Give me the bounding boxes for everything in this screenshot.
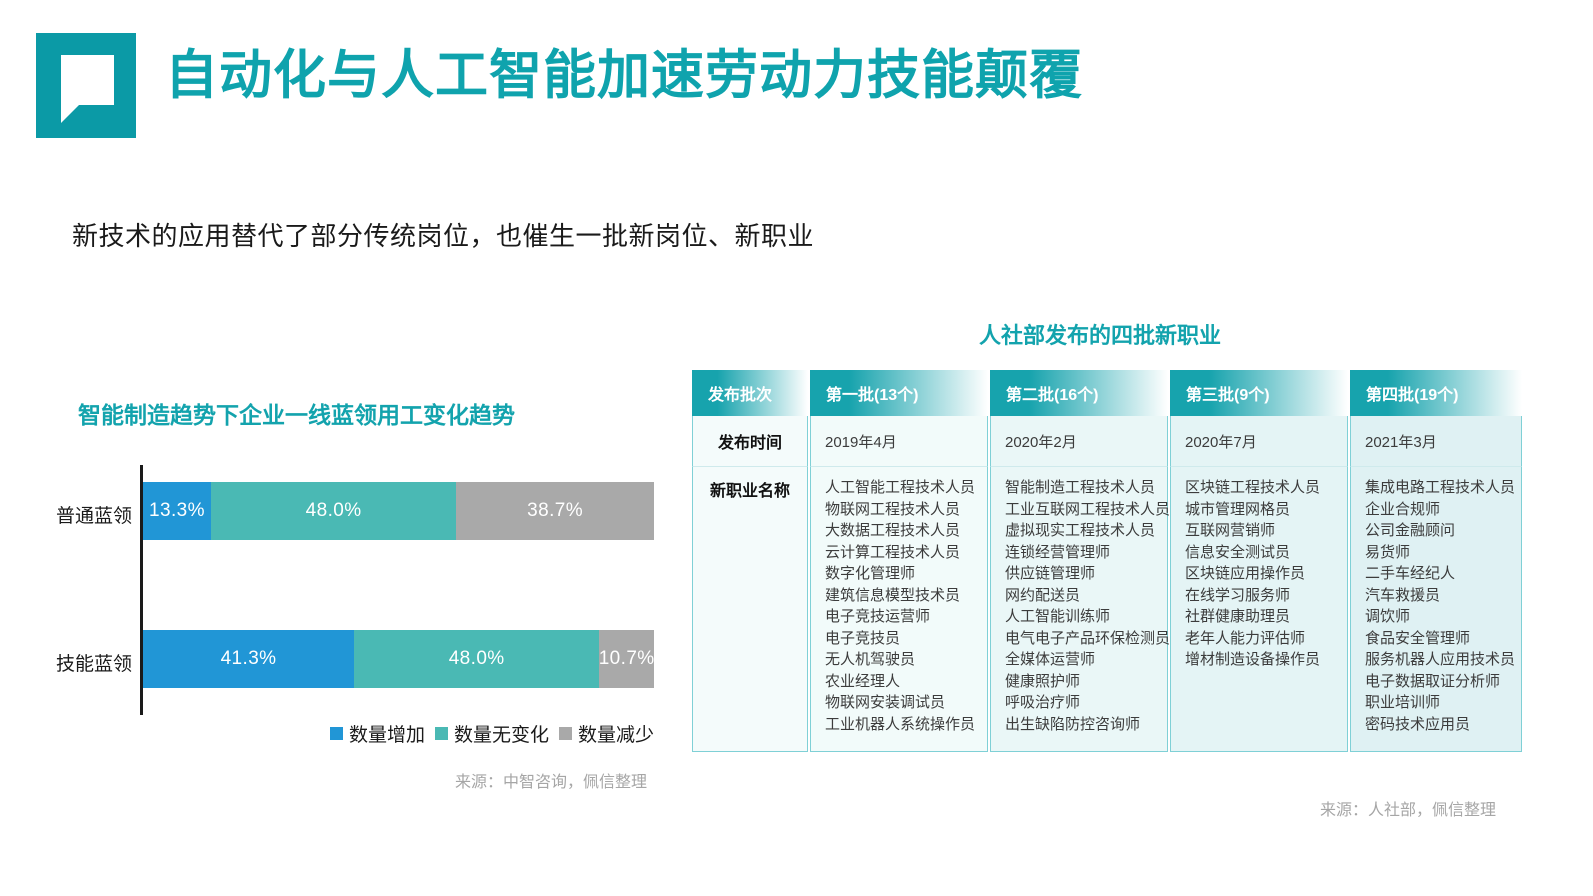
job-list-cell-2: 智能制造工程技术人员工业互联网工程技术人员虚拟现实工程技术人员连锁经营管理师供应…	[990, 467, 1168, 752]
list-item: 在线学习服务师	[1185, 585, 1333, 607]
table-header-row: 发布批次 第一批(13个) 第二批(16个) 第三批(9个) 第四批(19个)	[692, 370, 1522, 416]
legend-label-nochange: 数量无变化	[454, 720, 549, 747]
job-list-cell-1: 人工智能工程技术人员物联网工程技术人员大数据工程技术人员云计算工程技术人员数字化…	[810, 467, 988, 752]
bar-segment-decrease-1: 10.7%	[599, 630, 654, 688]
list-item: 大数据工程技术人员	[825, 520, 973, 542]
list-item: 企业合规师	[1365, 499, 1507, 521]
list-item: 云计算工程技术人员	[825, 542, 973, 564]
legend-label-increase: 数量增加	[349, 720, 425, 747]
table-header-batch-1: 第一批(13个)	[810, 370, 988, 416]
table-row: 发布时间 2019年4月 2020年2月 2020年7月 2021年3月	[692, 416, 1522, 467]
category-label-1: 技能蓝领	[40, 649, 132, 676]
list-item: 城市管理网格员	[1185, 499, 1333, 521]
release-time-3: 2020年7月	[1170, 416, 1348, 467]
list-item: 二手车经纪人	[1365, 563, 1507, 585]
list-item: 区块链应用操作员	[1185, 563, 1333, 585]
stacked-bar-row-0: 13.3% 48.0% 38.7%	[143, 482, 654, 540]
legend-swatch-nochange	[435, 727, 448, 740]
list-item: 虚拟现实工程技术人员	[1005, 520, 1153, 542]
list-item: 供应链管理师	[1005, 563, 1153, 585]
release-time-1: 2019年4月	[810, 416, 988, 467]
speech-bubble-icon	[61, 55, 161, 160]
list-item: 无人机驾驶员	[825, 649, 973, 671]
stacked-bar-row-1: 41.3% 48.0% 10.7%	[143, 630, 654, 688]
list-item: 区块链工程技术人员	[1185, 477, 1333, 499]
blue-collar-chart: 智能制造趋势下企业一线蓝领用工变化趋势 普通蓝领 技能蓝领 13.3% 48.0…	[0, 380, 680, 800]
list-item: 汽车救援员	[1365, 585, 1507, 607]
legend-item-decrease: 数量减少	[559, 720, 654, 747]
chart-source-note: 来源：中智咨询，佩信整理	[455, 768, 647, 792]
list-item: 社群健康助理员	[1185, 606, 1333, 628]
table-title: 人社部发布的四批新职业	[690, 318, 1510, 350]
list-item: 易货师	[1365, 542, 1507, 564]
list-item: 农业经理人	[825, 671, 973, 693]
list-item: 全媒体运营师	[1005, 649, 1153, 671]
list-item: 信息安全测试员	[1185, 542, 1333, 564]
list-item: 密码技术应用员	[1365, 714, 1507, 736]
list-item: 服务机器人应用技术员	[1365, 649, 1507, 671]
category-label-0: 普通蓝领	[40, 501, 132, 528]
list-item: 电子竞技运营师	[825, 606, 973, 628]
page-header: 自动化与人工智能加速劳动力技能颠覆	[0, 0, 1593, 160]
list-item: 网约配送员	[1005, 585, 1153, 607]
list-item: 职业培训师	[1365, 692, 1507, 714]
list-item: 电子竞技员	[825, 628, 973, 650]
list-item: 健康照护师	[1005, 671, 1153, 693]
new-occupations-table: 发布批次 第一批(13个) 第二批(16个) 第三批(9个) 第四批(19个) …	[690, 370, 1524, 752]
subtitle-text: 新技术的应用替代了部分传统岗位，也催生一批新岗位、新职业	[72, 216, 814, 253]
list-item: 调饮师	[1365, 606, 1507, 628]
legend-item-nochange: 数量无变化	[435, 720, 549, 747]
table-source-note: 来源：人社部，佩信整理	[1320, 796, 1496, 820]
legend-swatch-increase	[330, 727, 343, 740]
chart-legend: 数量增加 数量无变化 数量减少	[330, 720, 654, 747]
list-item: 电子数据取证分析师	[1365, 671, 1507, 693]
list-item: 建筑信息模型技术员	[825, 585, 973, 607]
bar-segment-nochange-1: 48.0%	[354, 630, 599, 688]
job-list-1: 人工智能工程技术人员物联网工程技术人员大数据工程技术人员云计算工程技术人员数字化…	[825, 477, 973, 735]
legend-label-decrease: 数量减少	[578, 720, 654, 747]
bar-segment-increase-0: 13.3%	[143, 482, 211, 540]
list-item: 工业互联网工程技术人员	[1005, 499, 1153, 521]
list-item: 人工智能工程技术人员	[825, 477, 973, 499]
job-list-3: 区块链工程技术人员城市管理网格员互联网营销师信息安全测试员区块链应用操作员在线学…	[1185, 477, 1333, 671]
row-label-release-time: 发布时间	[692, 416, 808, 467]
job-list-cell-4: 集成电路工程技术人员企业合规师公司金融顾问易货师二手车经纪人汽车救援员调饮师食品…	[1350, 467, 1522, 752]
list-item: 互联网营销师	[1185, 520, 1333, 542]
list-item: 物联网安装调试员	[825, 692, 973, 714]
list-item: 智能制造工程技术人员	[1005, 477, 1153, 499]
row-label-job-names: 新职业名称	[692, 467, 808, 752]
bar-segment-decrease-0: 38.7%	[456, 482, 654, 540]
release-time-2: 2020年2月	[990, 416, 1168, 467]
list-item: 连锁经营管理师	[1005, 542, 1153, 564]
job-list-cell-3: 区块链工程技术人员城市管理网格员互联网营销师信息安全测试员区块链应用操作员在线学…	[1170, 467, 1348, 752]
job-list-2: 智能制造工程技术人员工业互联网工程技术人员虚拟现实工程技术人员连锁经营管理师供应…	[1005, 477, 1153, 735]
brand-logo	[36, 33, 136, 138]
job-list-4: 集成电路工程技术人员企业合规师公司金融顾问易货师二手车经纪人汽车救援员调饮师食品…	[1365, 477, 1507, 735]
list-item: 物联网工程技术人员	[825, 499, 973, 521]
list-item: 老年人能力评估师	[1185, 628, 1333, 650]
table-header-batch-3: 第三批(9个)	[1170, 370, 1348, 416]
chart-plot-area: 普通蓝领 技能蓝领 13.3% 48.0% 38.7% 41.3% 48.0% …	[40, 465, 660, 715]
list-item: 呼吸治疗师	[1005, 692, 1153, 714]
release-time-4: 2021年3月	[1350, 416, 1522, 467]
list-item: 食品安全管理师	[1365, 628, 1507, 650]
list-item: 增材制造设备操作员	[1185, 649, 1333, 671]
chart-title: 智能制造趋势下企业一线蓝领用工变化趋势	[78, 396, 515, 430]
table-row: 新职业名称 人工智能工程技术人员物联网工程技术人员大数据工程技术人员云计算工程技…	[692, 467, 1522, 752]
bar-segment-increase-1: 41.3%	[143, 630, 354, 688]
table-header-batch: 发布批次	[692, 370, 808, 416]
list-item: 数字化管理师	[825, 563, 973, 585]
bar-segment-nochange-0: 48.0%	[211, 482, 456, 540]
list-item: 集成电路工程技术人员	[1365, 477, 1507, 499]
legend-swatch-decrease	[559, 727, 572, 740]
list-item: 出生缺陷防控咨询师	[1005, 714, 1153, 736]
page-title: 自动化与人工智能加速劳动力技能颠覆	[165, 44, 1083, 108]
list-item: 电气电子产品环保检测员	[1005, 628, 1153, 650]
table-header-batch-4: 第四批(19个)	[1350, 370, 1522, 416]
list-item: 人工智能训练师	[1005, 606, 1153, 628]
list-item: 工业机器人系统操作员	[825, 714, 973, 736]
table-header-batch-2: 第二批(16个)	[990, 370, 1168, 416]
list-item: 公司金融顾问	[1365, 520, 1507, 542]
legend-item-increase: 数量增加	[330, 720, 425, 747]
